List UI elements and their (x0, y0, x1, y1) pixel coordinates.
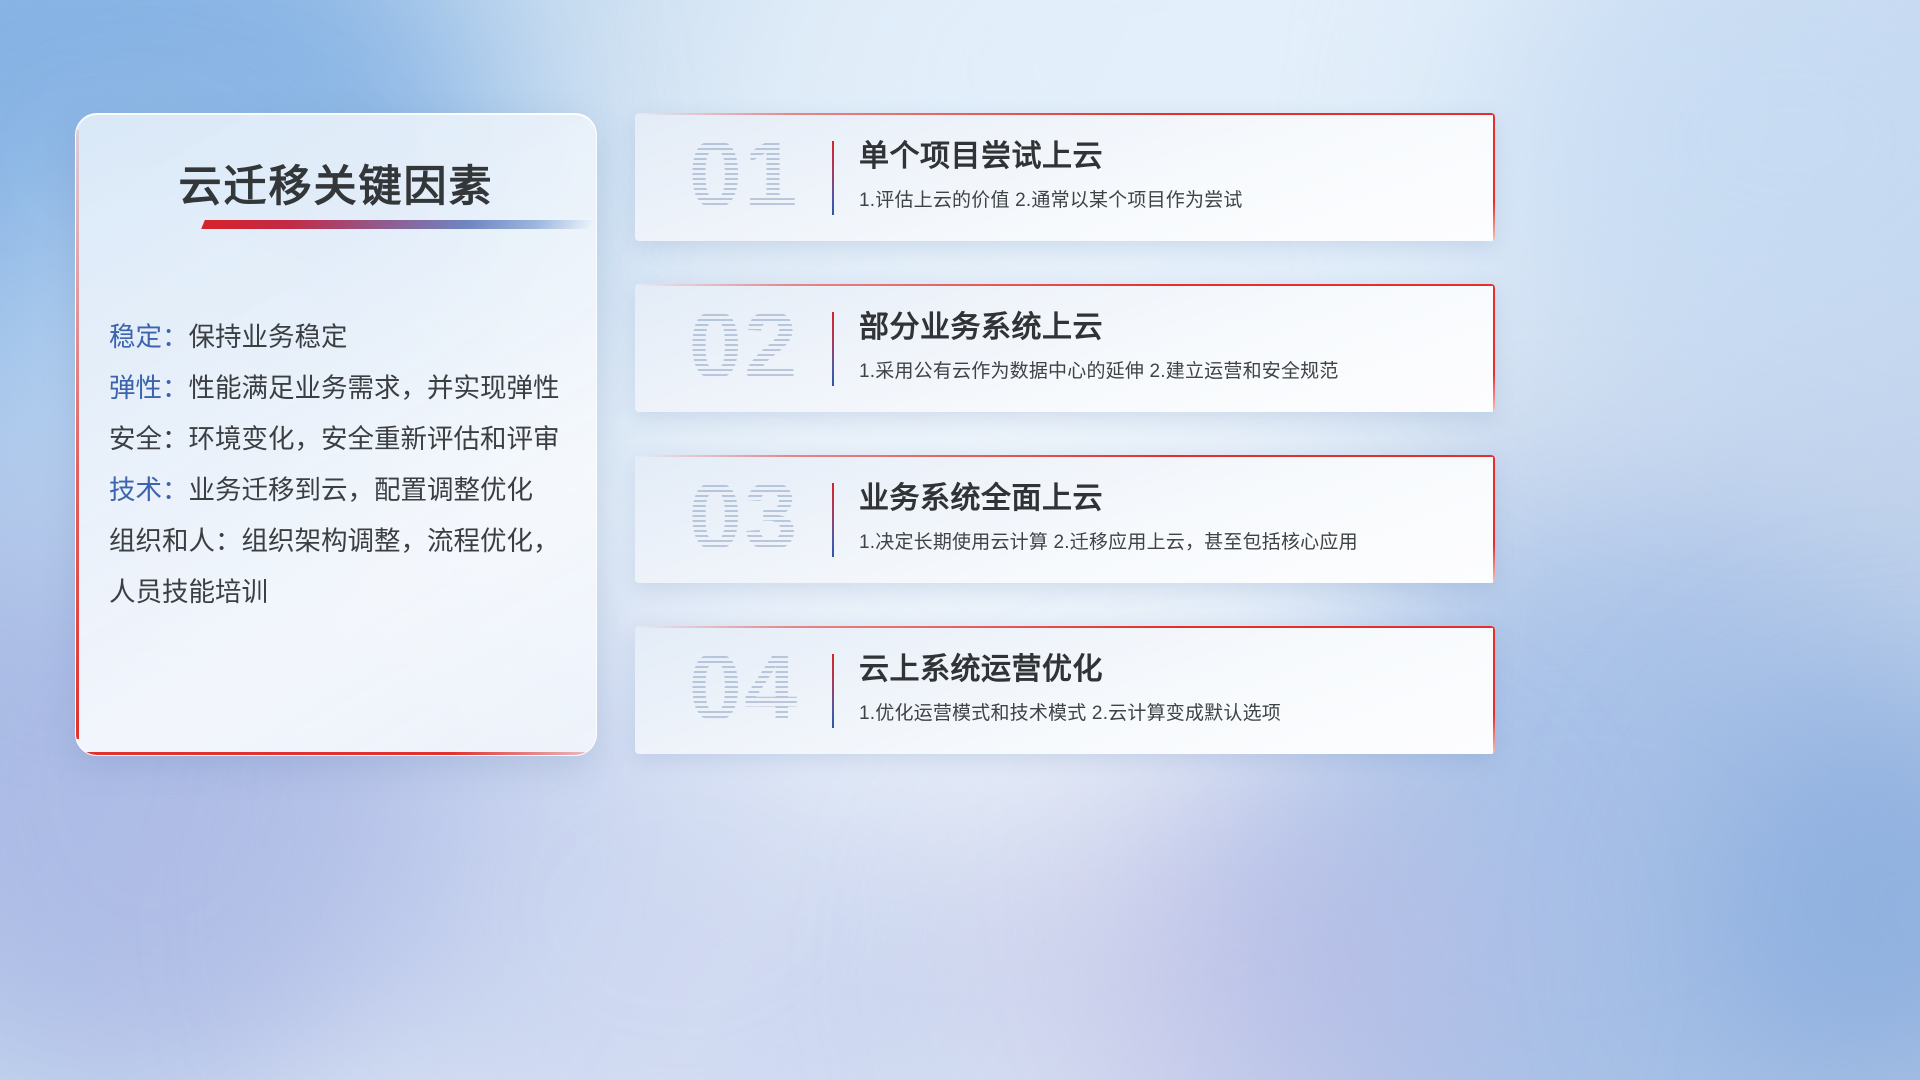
stage-description: 1.决定长期使用云计算 2.迁移应用上云，甚至包括核心应用 (859, 528, 1469, 558)
list-item-key: 安全： (109, 424, 189, 454)
stage-card-body: 单个项目尝试上云 1.评估上云的价值 2.通常以某个项目作为尝试 (859, 137, 1469, 216)
stage-description: 1.优化运营模式和技术模式 2.云计算变成默认选项 (859, 699, 1469, 729)
stage-card-01[interactable]: 01 单个项目尝试上云 1.评估上云的价值 2.通常以某个项目作为尝试 (635, 113, 1495, 241)
list-item-continuation: 人员技能培训 (109, 567, 576, 618)
title-underline-accent (201, 220, 595, 229)
list-item: 弹性：性能满足业务需求，并实现弹性 (109, 363, 576, 414)
stage-divider (832, 483, 834, 557)
stage-description: 1.采用公有云作为数据中心的延伸 2.建立运营和安全规范 (859, 357, 1469, 387)
stage-title: 业务系统全面上云 (859, 479, 1469, 519)
list-item: 组织和人：组织架构调整，流程优化， (109, 516, 576, 567)
stage-divider (832, 312, 834, 386)
stage-card-body: 业务系统全面上云 1.决定长期使用云计算 2.迁移应用上云，甚至包括核心应用 (859, 479, 1469, 558)
list-item-value: 人员技能培训 (109, 577, 268, 607)
stage-title: 云上系统运营优化 (859, 650, 1469, 690)
list-item-key: 稳定： (109, 322, 189, 352)
stage-description: 1.评估上云的价值 2.通常以某个项目作为尝试 (859, 186, 1469, 216)
stage-title: 单个项目尝试上云 (859, 137, 1469, 177)
list-item: 技术：业务迁移到云，配置调整优化 (109, 465, 576, 516)
stage-number-watermark: 03 (659, 455, 829, 583)
stage-card-body: 云上系统运营优化 1.优化运营模式和技术模式 2.云计算变成默认选项 (859, 650, 1469, 729)
list-item-key: 组织和人： (109, 526, 242, 556)
list-item: 稳定：保持业务稳定 (109, 312, 576, 363)
list-item-key: 技术： (109, 475, 189, 505)
stage-card-list: 01 单个项目尝试上云 1.评估上云的价值 2.通常以某个项目作为尝试 02 部… (635, 113, 1495, 797)
list-item: 安全：环境变化，安全重新评估和评审 (109, 414, 576, 465)
stage-number-watermark: 02 (659, 284, 829, 412)
list-item-key: 弹性： (109, 373, 189, 403)
stage-card-04[interactable]: 04 云上系统运营优化 1.优化运营模式和技术模式 2.云计算变成默认选项 (635, 626, 1495, 754)
key-factors-list: 稳定：保持业务稳定 弹性：性能满足业务需求，并实现弹性 安全：环境变化，安全重新… (109, 312, 576, 618)
stage-title: 部分业务系统上云 (859, 308, 1469, 348)
stage-card-02[interactable]: 02 部分业务系统上云 1.采用公有云作为数据中心的延伸 2.建立运营和安全规范 (635, 284, 1495, 412)
key-factors-panel: 云迁移关键因素 稳定：保持业务稳定 弹性：性能满足业务需求，并实现弹性 安全：环… (75, 113, 597, 756)
stage-divider (832, 141, 834, 215)
stage-number-watermark: 04 (659, 626, 829, 754)
stage-divider (832, 654, 834, 728)
list-item-value: 保持业务稳定 (189, 322, 348, 352)
list-item-value: 组织架构调整，流程优化， (242, 526, 560, 556)
stage-card-body: 部分业务系统上云 1.采用公有云作为数据中心的延伸 2.建立运营和安全规范 (859, 308, 1469, 387)
list-item-value: 性能满足业务需求，并实现弹性 (189, 373, 560, 403)
list-item-value: 环境变化，安全重新评估和评审 (189, 424, 560, 454)
stage-number-watermark: 01 (659, 113, 829, 241)
list-item-value: 业务迁移到云，配置调整优化 (189, 475, 534, 505)
page-title: 云迁移关键因素 (76, 152, 596, 214)
stage-card-03[interactable]: 03 业务系统全面上云 1.决定长期使用云计算 2.迁移应用上云，甚至包括核心应… (635, 455, 1495, 583)
